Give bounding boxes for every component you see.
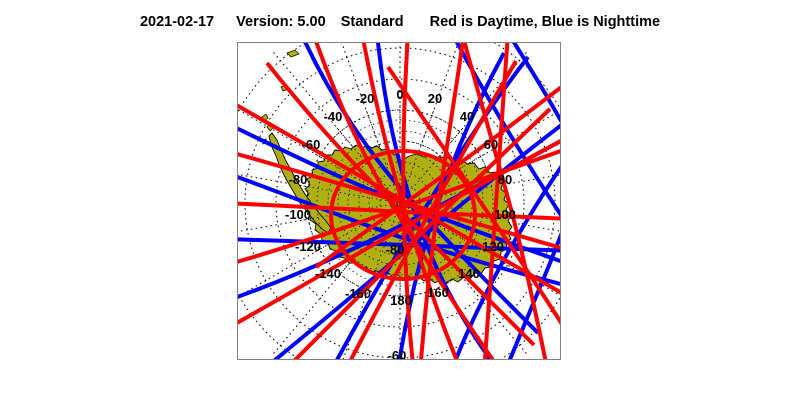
meridian-label: 140 [458,266,480,281]
title-version: Version: 5.00 [236,14,325,30]
polar-map-panel: 0 20 40 60 80 100 120 140 160 180 -160 -… [237,42,561,360]
meridian-label: -100 [285,207,311,222]
meridian-label: -20 [356,91,375,106]
latitude-label: -60 [388,348,407,359]
meridian-label: 100 [494,207,516,222]
meridian-label: 60 [484,137,498,152]
title-legend: Red is Daytime, Blue is Nighttime [430,14,660,30]
figure-canvas: 2021-02-17 Version: 5.00 Standard Red is… [0,0,800,400]
meridian-label: 120 [482,239,504,254]
meridian-label: -160 [345,286,371,301]
meridian-label: -140 [315,266,341,281]
meridian-label: -40 [324,109,343,124]
meridian-label: -120 [295,239,321,254]
polar-map-svg: 0 20 40 60 80 100 120 140 160 180 -160 -… [238,43,560,359]
meridian-label: 20 [428,91,442,106]
meridian-label: 80 [498,172,512,187]
title-mode: Standard [341,14,404,30]
figure-title: 2021-02-17 Version: 5.00 Standard Red is… [0,14,800,30]
meridian-label: 180 [390,293,412,308]
meridian-label: 40 [460,109,474,124]
meridian-label: 0 [396,87,403,102]
meridian-label: 160 [427,285,449,300]
meridian-label: -60 [302,137,321,152]
meridian-label: -80 [289,172,308,187]
title-date: 2021-02-17 [140,14,214,30]
latitude-label: -80 [386,242,405,257]
